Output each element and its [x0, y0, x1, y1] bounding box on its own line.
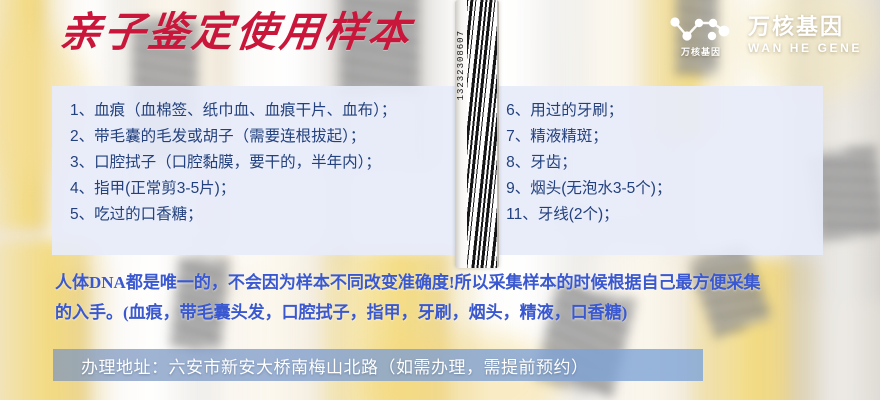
address-text: 办理地址：六安市新安大桥南梅山北路（如需办理，需提前预约）: [53, 353, 589, 378]
sample-item: 8、牙齿；: [506, 150, 823, 176]
note-line: 人体DNA都是唯一的，不会因为样本不同改变准确度!所以采集样本的时候根据自己最方…: [55, 268, 845, 298]
sample-item: 4、指甲(正常剪3-5片)；: [70, 176, 454, 202]
barcode-digits: 13232308607: [456, 30, 470, 100]
sample-list-right-column: 6、用过的牙刷； 7、精液精斑； 8、牙齿； 9、烟头(无泡水3-5个)； 11…: [454, 86, 823, 255]
barcode-stripes-icon: [467, 0, 497, 268]
brand-logo: 万核基因 万核基因 WAN HE GENE: [668, 12, 862, 58]
sample-item: 2、带毛囊的毛发或胡子（需要连根拔起）；: [70, 124, 454, 150]
sample-list-left-column: 1、血痕（血棉签、纸巾血、血痕干片、血布）； 2、带毛囊的毛发或胡子（需要连根拔…: [52, 86, 454, 255]
note-line: 的入手。(血痕，带毛囊头发，口腔拭子，指甲，牙刷，烟头，精液，口香糖): [55, 298, 845, 328]
sample-list-panel: 1、血痕（血棉签、纸巾血、血痕干片、血布）； 2、带毛囊的毛发或胡子（需要连根拔…: [52, 86, 823, 255]
brand-text: 万核基因 WAN HE GENE: [748, 15, 862, 55]
poster-root: 亲子鉴定使用样本 万核基因 万核基因 WAN HE GENE: [0, 0, 880, 400]
brand-mark-label: 万核基因: [668, 45, 734, 58]
brand-name-en: WAN HE GENE: [748, 42, 862, 55]
molecule-chain-icon: 万核基因: [668, 12, 734, 58]
sample-item: 11、牙线(2个)；: [506, 202, 823, 228]
page-title: 亲子鉴定使用样本: [57, 12, 414, 53]
note-paragraph: 人体DNA都是唯一的，不会因为样本不同改变准确度!所以采集样本的时候根据自己最方…: [55, 268, 845, 328]
foreground-sample-tube: 13232308607: [455, 0, 499, 268]
sample-item: 3、口腔拭子（口腔黏膜，要干的，半年内）；: [70, 150, 454, 176]
sample-item: 7、精液精斑；: [506, 124, 823, 150]
brand-name-cn: 万核基因: [748, 15, 862, 39]
sample-item: 5、吃过的口香糖；: [70, 202, 454, 228]
sample-item: 9、烟头(无泡水3-5个)；: [506, 176, 823, 202]
sample-item: 1、血痕（血棉签、纸巾血、血痕干片、血布）；: [70, 98, 454, 124]
sample-item: 6、用过的牙刷；: [506, 98, 823, 124]
address-bar: 办理地址：六安市新安大桥南梅山北路（如需办理，需提前预约）: [53, 349, 703, 381]
